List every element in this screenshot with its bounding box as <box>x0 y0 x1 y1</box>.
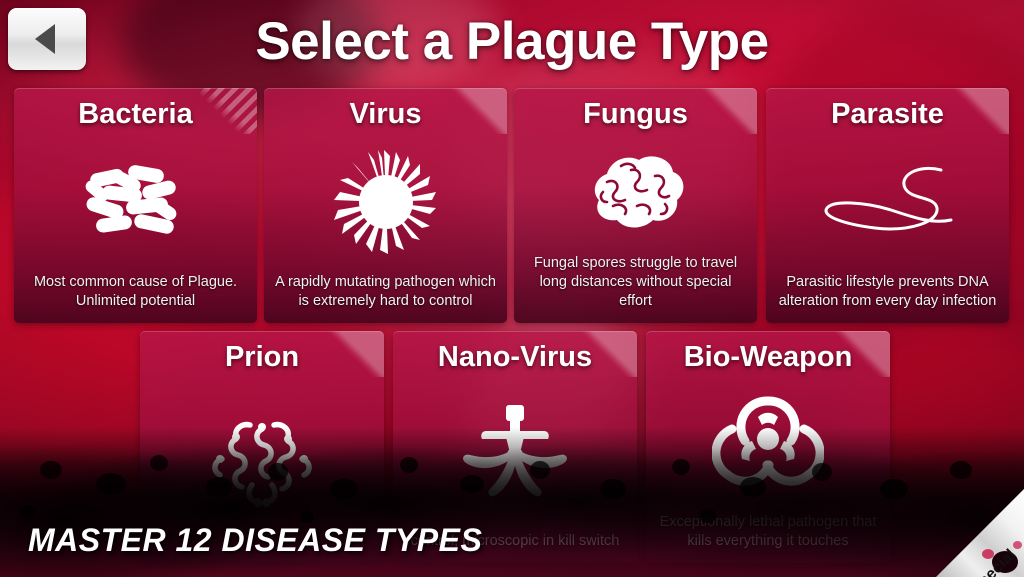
plague-card-virus[interactable]: Virus <box>264 88 507 323</box>
card-title: Virus <box>349 98 421 131</box>
card-title: Prion <box>225 341 299 374</box>
card-corner-fold <box>951 88 1009 134</box>
left-triangle-icon <box>35 24 55 54</box>
nano-virus-machine-icon <box>393 374 637 532</box>
card-corner-fold <box>449 88 507 134</box>
back-button[interactable] <box>8 8 86 70</box>
card-title: Nano-Virus <box>438 341 592 374</box>
card-title: Bacteria <box>78 98 192 131</box>
plague-type-select-screen: Select a Plague Type Bacteria <box>0 0 1024 577</box>
footer-tagline: MASTER 12 DISEASE TYPES <box>28 522 482 559</box>
blood-splatter <box>1013 541 1022 549</box>
bacteria-rods-icon <box>14 131 257 273</box>
virus-spiky-sphere-icon <box>264 131 507 273</box>
card-description: A rapidly mutating pathogen which is ext… <box>264 273 507 323</box>
plague-card-bio-weapon[interactable]: Bio-Weapon Exceptionally l <box>646 331 890 563</box>
card-description: Fungal spores struggle to travel long di… <box>514 254 757 323</box>
card-corner-fold <box>699 88 757 134</box>
card-title: Bio-Weapon <box>684 341 853 374</box>
fungus-spore-cluster-icon <box>514 131 757 254</box>
card-title: Fungus <box>583 98 688 131</box>
plague-card-parasite[interactable]: Parasite Parasitic lifestyle prevents DN… <box>766 88 1009 323</box>
card-title: Parasite <box>831 98 944 131</box>
card-corner-fold <box>326 331 384 377</box>
plague-card-bacteria[interactable]: Bacteria Most common cause of Pla <box>14 88 257 323</box>
plague-card-fungus[interactable]: Fungus Fungal spores struggle to trav <box>514 88 757 323</box>
card-description: Exceptionally lethal pathogen that kills… <box>646 513 890 563</box>
page-title: Select a Plague Type <box>0 11 1024 72</box>
special-ribbon[interactable]: Special <box>936 489 1024 577</box>
card-description: Parasitic lifestyle prevents DNA alterat… <box>766 273 1009 323</box>
parasite-worm-icon <box>766 131 1009 273</box>
blood-splatter <box>982 549 994 559</box>
card-corner-stripes <box>199 88 257 134</box>
card-description: Most common cause of Plague. Unlimited p… <box>14 273 257 323</box>
biohazard-icon <box>646 374 890 513</box>
